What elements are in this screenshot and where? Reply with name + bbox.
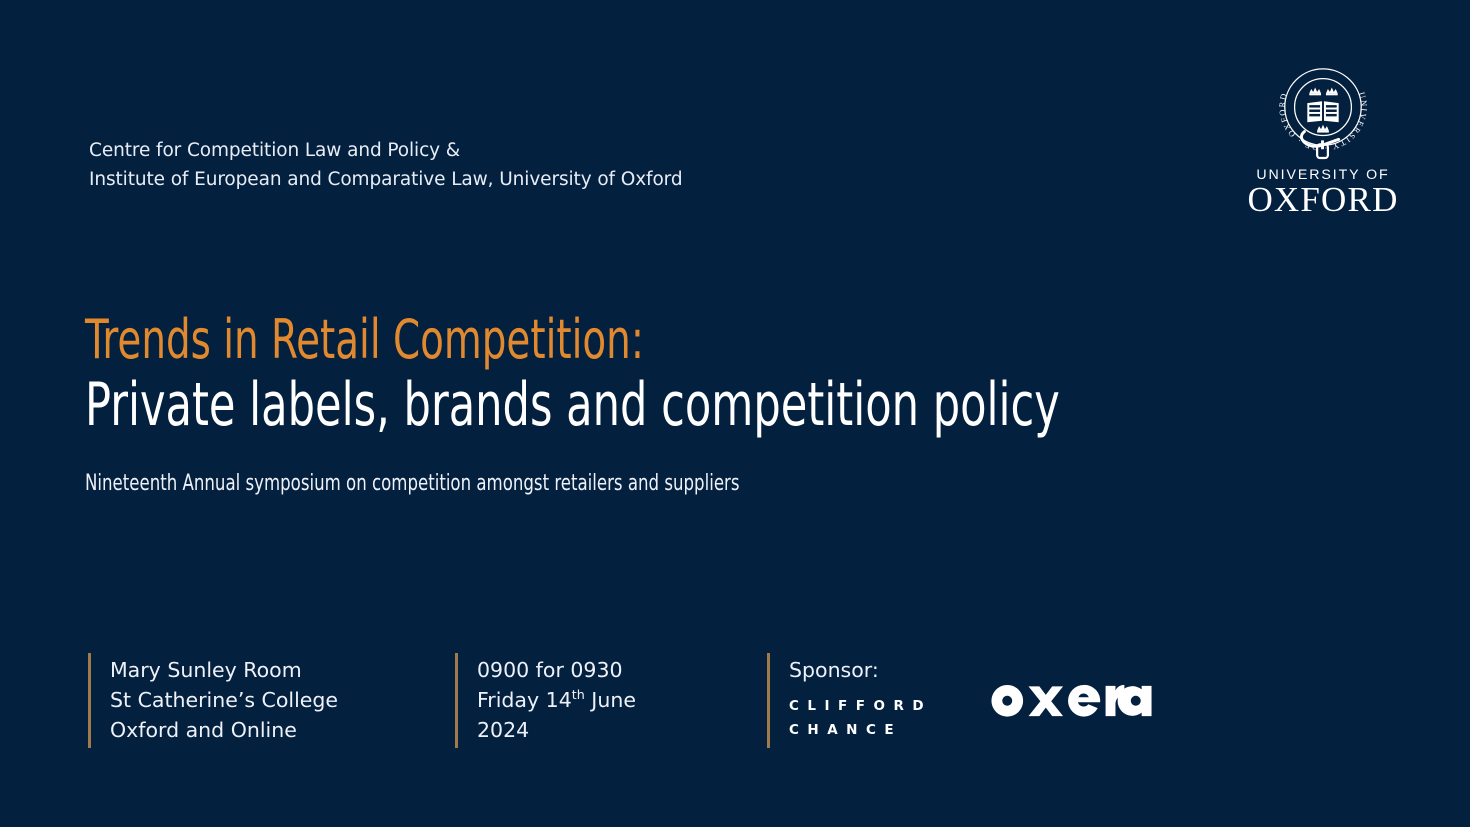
date-day: Friday 14: [477, 688, 572, 712]
oxera-logo: [987, 677, 1155, 730]
date-rule: [455, 653, 458, 748]
sponsor-rule: [767, 653, 770, 748]
oxera-wordmark-icon: [987, 677, 1155, 725]
clifford-chance-logo: CLIFFORD CHANCE: [789, 694, 932, 742]
title-line-2: Private labels, brands and competition p…: [85, 374, 1125, 438]
date-lines: 0900 for 0930 Friday 14th June 2024: [477, 653, 636, 748]
university-of-oxford-logo: UNIVERSITY · OF · OXFORD: [1243, 58, 1403, 217]
clifford-chance-line-1: CLIFFORD: [789, 694, 932, 718]
sponsor-body: Sponsor: CLIFFORD CHANCE: [789, 653, 1155, 748]
title-block: Trends in Retail Competition: Private la…: [85, 312, 1385, 438]
subtitle: Nineteenth Annual symposium on competiti…: [85, 470, 740, 496]
venue-line-2: St Catherine’s College: [110, 685, 338, 715]
venue-rule: [88, 653, 91, 748]
date-line-2: Friday 14th June: [477, 685, 636, 715]
venue-block: Mary Sunley Room St Catherine’s College …: [88, 653, 455, 748]
sponsor-block: Sponsor: CLIFFORD CHANCE: [767, 653, 1155, 748]
clifford-chance-line-2: CHANCE: [789, 718, 932, 742]
oxford-crest-icon: UNIVERSITY · OF · OXFORD: [1274, 58, 1372, 163]
date-block: 0900 for 0930 Friday 14th June 2024: [455, 653, 767, 748]
organisation-line-1: Centre for Competition Law and Policy &: [89, 136, 683, 165]
date-ordinal-suffix: th: [572, 687, 585, 702]
sponsor-label: Sponsor:: [789, 653, 932, 685]
organisation-header: Centre for Competition Law and Policy & …: [89, 136, 683, 194]
venue-line-1: Mary Sunley Room: [110, 655, 338, 685]
venue-lines: Mary Sunley Room St Catherine’s College …: [110, 653, 338, 748]
date-line-3: 2024: [477, 715, 636, 745]
venue-line-3: Oxford and Online: [110, 715, 338, 745]
date-line-1: 0900 for 0930: [477, 655, 636, 685]
date-month: June: [585, 688, 636, 712]
title-line-1: Trends in Retail Competition:: [85, 312, 1125, 368]
sponsor-logos: Sponsor: CLIFFORD CHANCE: [789, 653, 932, 742]
presentation-title-slide: Centre for Competition Law and Policy & …: [0, 0, 1470, 827]
crest-wrap: UNIVERSITY · OF · OXFORD: [1243, 58, 1403, 163]
oxford-wordmark-line-2: OXFORD: [1243, 183, 1403, 217]
footer-row: Mary Sunley Room St Catherine’s College …: [88, 653, 1155, 748]
organisation-line-2: Institute of European and Comparative La…: [89, 165, 683, 194]
